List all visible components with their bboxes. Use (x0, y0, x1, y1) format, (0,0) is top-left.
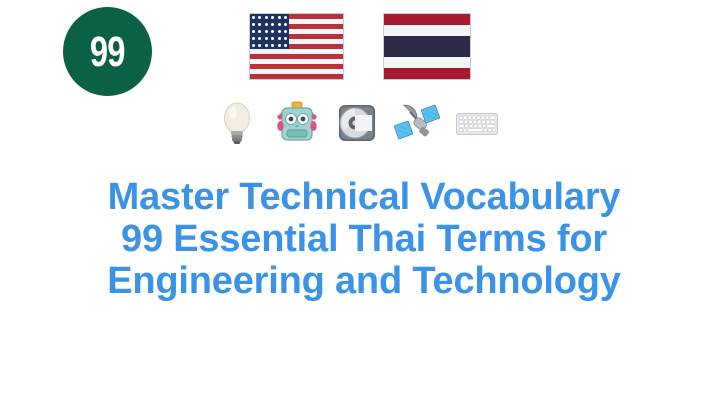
satellite-icon (394, 99, 440, 147)
us-flag-stars (250, 14, 289, 49)
computer-disk-icon (334, 99, 380, 147)
us-flag-canton (250, 14, 289, 49)
count-badge: 99 (63, 7, 152, 96)
page-title-line-3: Engineering and Technology (0, 260, 728, 302)
flag-thailand-icon (383, 13, 471, 80)
thai-flag-bands (384, 14, 470, 79)
keyboard-icon (454, 99, 500, 147)
slide-canvas: 99 (0, 0, 728, 408)
robot-icon (274, 99, 320, 147)
flag-united-states-icon (249, 13, 344, 80)
icon-row (214, 97, 514, 149)
count-badge-number: 99 (90, 30, 125, 72)
page-title: Master Technical Vocabulary 99 Essential… (0, 176, 728, 302)
light-bulb-icon (214, 99, 260, 147)
page-title-line-1: Master Technical Vocabulary (0, 176, 728, 218)
page-title-line-2: 99 Essential Thai Terms for (0, 218, 728, 260)
